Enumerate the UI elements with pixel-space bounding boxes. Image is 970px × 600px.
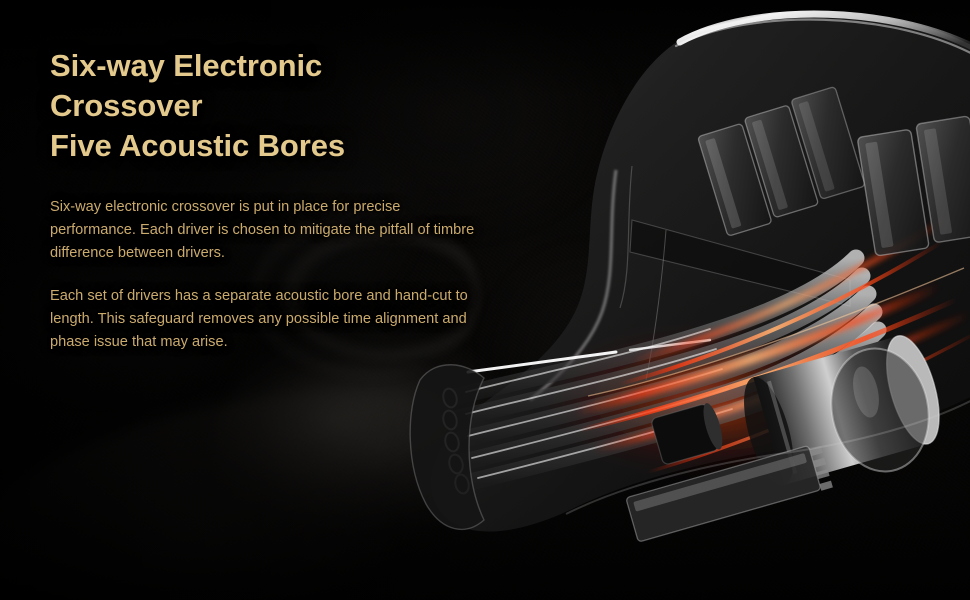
paragraph-acoustic-bores: Each set of drivers has a separate acous… xyxy=(50,285,480,353)
body-copy: Six-way electronic crossover is put in p… xyxy=(50,166,480,354)
headline-line-1: Six-way Electronic Crossover xyxy=(50,48,322,123)
page-title: Six-way Electronic Crossover Five Acoust… xyxy=(50,46,480,166)
copy-block: Six-way Electronic Crossover Five Acoust… xyxy=(50,46,480,354)
headline-line-2: Five Acoustic Bores xyxy=(50,126,480,166)
paragraph-crossover: Six-way electronic crossover is put in p… xyxy=(50,196,480,264)
feature-banner: Six-way Electronic Crossover Five Acoust… xyxy=(0,0,970,600)
